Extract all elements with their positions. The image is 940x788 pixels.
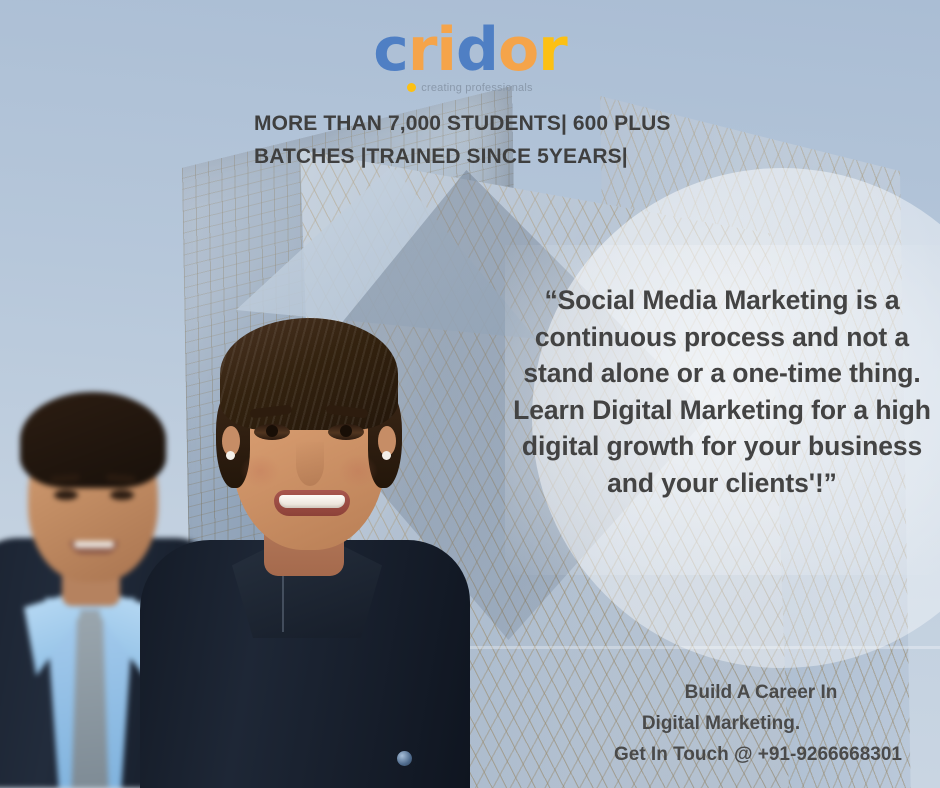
headline-line-1: MORE THAN 7,000 STUDENTS| 600 PLUS	[254, 108, 724, 141]
businessman-eye-left	[54, 490, 78, 500]
headline-line-2: BATCHES |TRAINED SINCE 5YEARS|	[254, 141, 724, 174]
logo-letter-c: c	[373, 15, 408, 85]
businesswoman-cheek-left	[240, 454, 280, 488]
businesswoman-earring-left	[226, 451, 235, 460]
quote-text: “Social Media Marketing is a continuous …	[512, 282, 932, 501]
tagline-dot-icon	[407, 83, 416, 92]
businesswoman-lapel-pin	[397, 751, 412, 766]
businesswoman-earring-right	[382, 451, 391, 460]
cta-phone-line[interactable]: Get In Touch @ +91-9266668301	[580, 740, 936, 771]
logo-letter-o: o	[498, 15, 538, 85]
cta-line-1: Build A Career In	[580, 678, 936, 709]
marketing-poster: cridor creating professionals MORE THAN …	[0, 0, 940, 788]
logo-letter-i: i	[436, 15, 456, 85]
cta-line-2: Digital Marketing.	[580, 709, 936, 740]
businesswoman-pupil-left	[266, 425, 278, 437]
businesswoman-teeth	[279, 495, 345, 508]
headline-block: MORE THAN 7,000 STUDENTS| 600 PLUS BATCH…	[254, 108, 724, 173]
brand-logo: cridor creating professionals	[0, 20, 940, 94]
businessman-eye-right	[110, 490, 134, 500]
businesswoman-hair	[220, 318, 398, 430]
businesswoman-cheek-right	[338, 454, 378, 488]
logo-letter-r2: r	[538, 15, 567, 85]
logo-letter-d: d	[456, 15, 498, 85]
logo-letter-r1: r	[408, 15, 437, 85]
businesswoman-pupil-right	[340, 425, 352, 437]
call-to-action-block: Build A Career In Digital Marketing. Get…	[580, 678, 936, 770]
businessman-teeth	[74, 541, 114, 548]
businesswoman-nose	[296, 442, 324, 486]
businesswoman-figure	[140, 268, 470, 788]
logo-wordmark: cridor	[373, 20, 567, 80]
people-photo-group	[0, 268, 470, 788]
